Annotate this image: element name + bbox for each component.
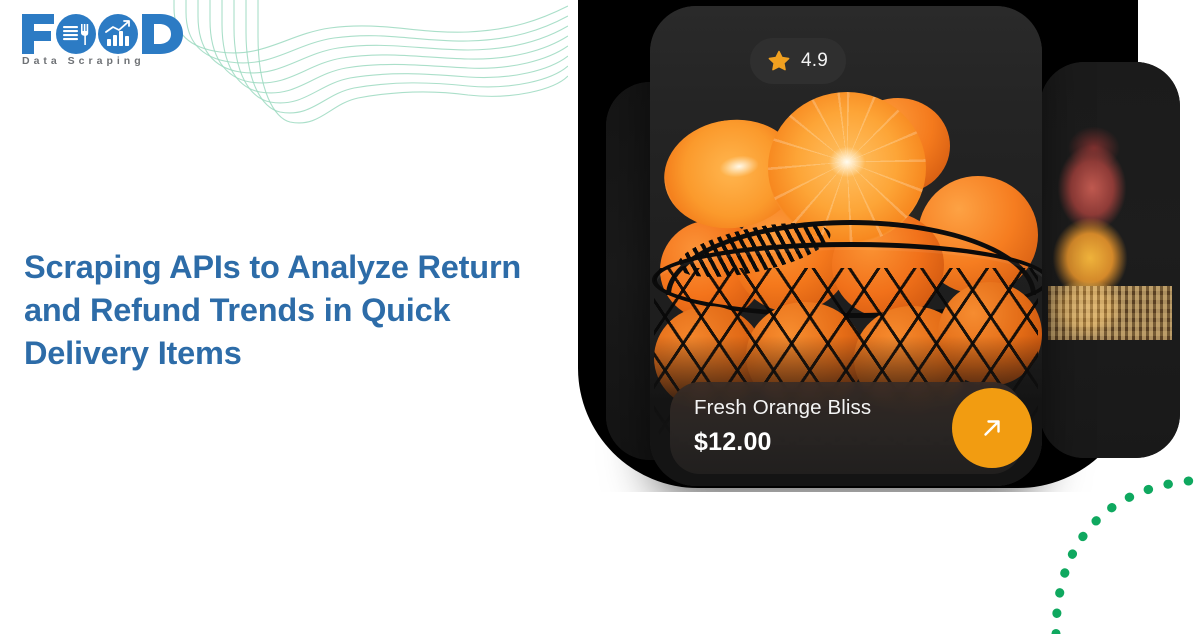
vegetables-photo <box>606 82 794 460</box>
product-info-bar: Fresh Orange Bliss $12.00 <box>670 382 1022 474</box>
wicker-basket <box>1048 286 1172 340</box>
contour-wave-decoration <box>168 0 568 130</box>
orange-fruit <box>938 282 1042 386</box>
halved-orange <box>657 111 807 237</box>
basket-rim <box>652 242 1042 318</box>
orange-fruit <box>846 98 950 194</box>
back-card-apples[interactable] <box>1040 62 1180 458</box>
rating-value: 4.9 <box>801 50 828 72</box>
brand-logo[interactable]: Data Scraping <box>20 12 190 72</box>
orange-fruit <box>660 220 764 320</box>
rating-badge: 4.9 <box>750 38 846 84</box>
basket-coil <box>673 212 835 287</box>
basket-handle <box>666 220 1036 295</box>
arrow-up-right-icon <box>975 411 1009 445</box>
orange-fruit <box>654 306 764 410</box>
page-title: Scraping APIs to Analyze Return and Refu… <box>24 246 564 375</box>
star-icon <box>768 50 790 72</box>
hero-backdrop <box>578 0 1138 488</box>
back-card-vegetables[interactable] <box>606 82 794 460</box>
product-price: $12.00 <box>694 428 772 457</box>
logo-tagline: Data Scraping <box>22 55 145 67</box>
orange-fruit <box>832 212 944 318</box>
product-title: Fresh Orange Bliss <box>694 396 871 420</box>
logo-wordmark <box>20 12 190 56</box>
orange-fruit <box>918 176 1038 294</box>
halved-orange <box>768 92 926 244</box>
orange-fruit <box>746 302 864 410</box>
dotted-arc-decoration <box>1032 458 1202 634</box>
hero-illustration: 4.9 Fresh Orange Bliss $12.00 <box>578 0 1202 492</box>
front-card-oranges[interactable]: 4.9 Fresh Orange Bliss $12.00 <box>650 6 1042 486</box>
apples-photo <box>1040 62 1180 458</box>
orange-fruit <box>734 202 850 312</box>
product-open-button[interactable] <box>952 388 1032 468</box>
orange-fruit <box>854 306 970 412</box>
